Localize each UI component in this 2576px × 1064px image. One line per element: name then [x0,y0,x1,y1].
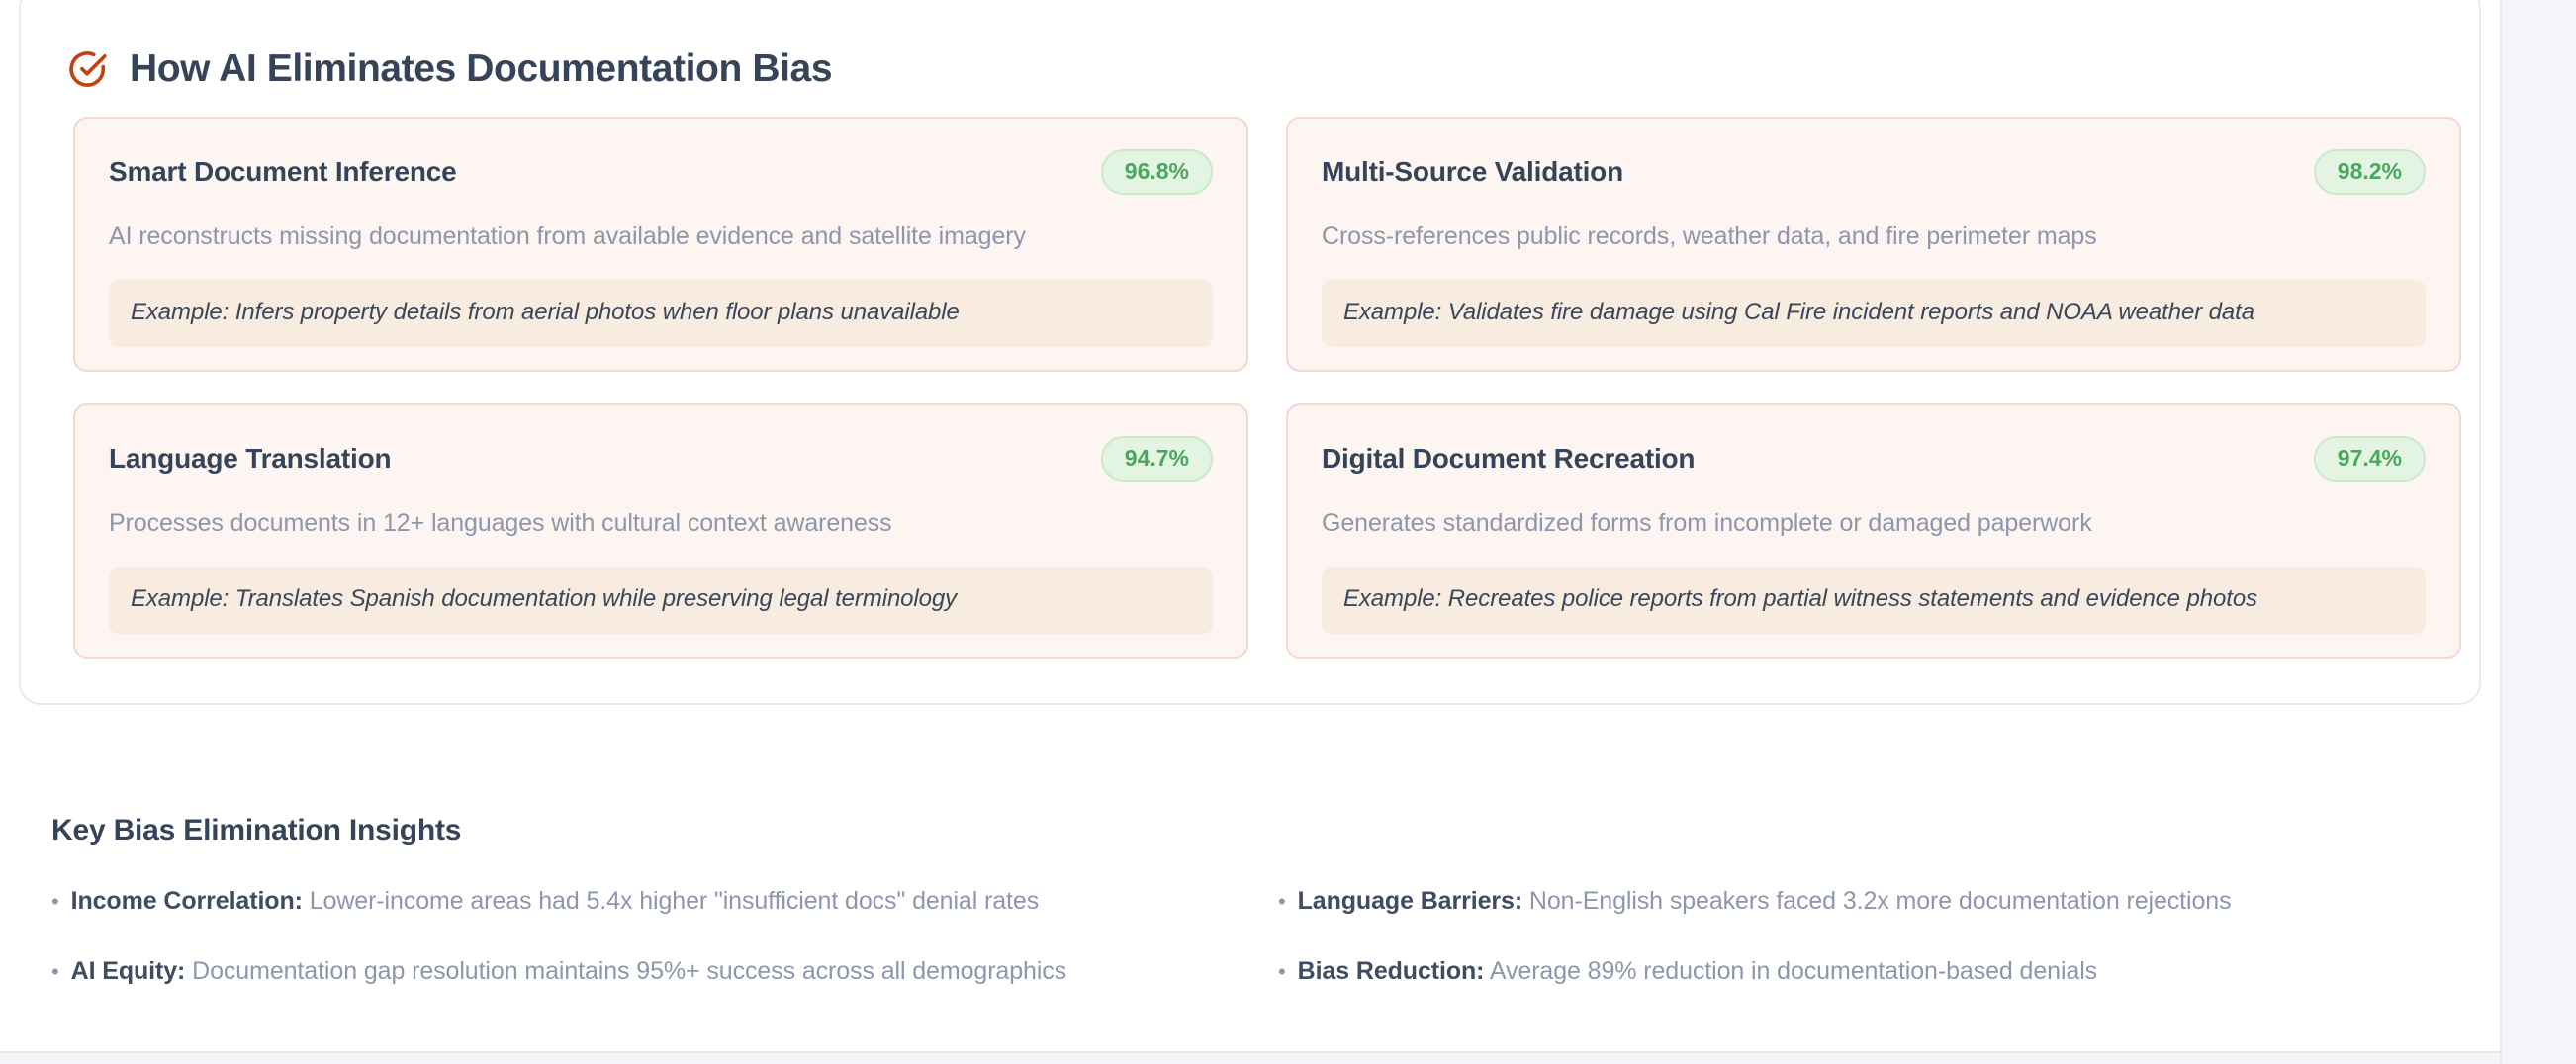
card-description: AI reconstructs missing documentation fr… [109,222,1213,251]
insight-body: Bias Reduction: Average 89% reduction in… [1298,957,2097,986]
insight-label: Language Barriers: [1298,887,1522,915]
card-example: Example: Translates Spanish documentatio… [109,567,1213,634]
bullet-icon: • [1278,891,1286,913]
feature-card[interactable]: Language Translation 94.7% Processes doc… [73,403,1248,659]
insight-detail: Non-English speakers faced 3.2x more doc… [1529,887,2232,915]
accuracy-badge: 98.2% [2314,149,2426,195]
accuracy-badge: 96.8% [1101,149,1213,195]
key-insights-section: Key Bias Elimination Insights • Income C… [51,791,2445,985]
panel-header: How AI Eliminates Documentation Bias [66,24,832,114]
insight-item: • Income Correlation: Lower-income areas… [51,887,1278,916]
insight-detail: Documentation gap resolution maintains 9… [192,957,1066,985]
insight-body: Language Barriers: Non-English speakers … [1298,887,2232,916]
insight-body: Income Correlation: Lower-income areas h… [71,887,1040,916]
card-example: Example: Validates fire damage using Cal… [1322,280,2426,347]
card-title: Language Translation [109,445,391,473]
feature-card[interactable]: Multi-Source Validation 98.2% Cross-refe… [1286,117,2461,372]
card-example: Example: Recreates police reports from p… [1322,567,2426,634]
vertical-scrollbar-track[interactable] [2500,0,2576,1064]
insight-item: • AI Equity: Documentation gap resolutio… [51,957,1278,986]
insights-title: Key Bias Elimination Insights [51,816,2445,845]
card-example: Example: Infers property details from ae… [109,280,1213,347]
insight-label: Income Correlation: [71,887,303,915]
card-title: Digital Document Recreation [1322,445,1695,473]
insight-item: • Language Barriers: Non-English speaker… [1278,887,2445,916]
circle-check-icon [66,48,108,90]
bullet-icon: • [1278,961,1286,983]
documentation-bias-panel: How AI Eliminates Documentation Bias Sma… [19,0,2481,705]
card-header: Smart Document Inference 96.8% [109,148,1213,196]
insights-grid: • Income Correlation: Lower-income areas… [51,887,2445,986]
insight-detail: Average 89% reduction in documentation-b… [1490,957,2097,985]
feature-card[interactable]: Smart Document Inference 96.8% AI recons… [73,117,1248,372]
card-header: Digital Document Recreation 97.4% [1322,435,2426,483]
feature-card[interactable]: Digital Document Recreation 97.4% Genera… [1286,403,2461,659]
insight-label: Bias Reduction: [1298,957,1485,985]
horizontal-scrollbar-track[interactable] [0,1051,2500,1064]
card-description: Generates standardized forms from incomp… [1322,508,2426,538]
insight-label: AI Equity: [71,957,186,985]
card-header: Language Translation 94.7% [109,435,1213,483]
page-title: How AI Eliminates Documentation Bias [130,49,832,88]
card-title: Smart Document Inference [109,158,457,186]
page-root: How AI Eliminates Documentation Bias Sma… [0,0,2576,1064]
insight-body: AI Equity: Documentation gap resolution … [71,957,1066,986]
insight-detail: Lower-income areas had 5.4x higher "insu… [310,887,1039,915]
card-title: Multi-Source Validation [1322,158,1623,186]
bullet-icon: • [51,961,59,983]
scroll-content: How AI Eliminates Documentation Bias Sma… [0,0,2500,1051]
accuracy-badge: 97.4% [2314,436,2426,482]
bullet-icon: • [51,891,59,913]
insight-item: • Bias Reduction: Average 89% reduction … [1278,957,2445,986]
feature-card-grid: Smart Document Inference 96.8% AI recons… [73,117,2430,659]
card-description: Cross-references public records, weather… [1322,222,2426,251]
card-description: Processes documents in 12+ languages wit… [109,508,1213,538]
card-header: Multi-Source Validation 98.2% [1322,148,2426,196]
accuracy-badge: 94.7% [1101,436,1213,482]
